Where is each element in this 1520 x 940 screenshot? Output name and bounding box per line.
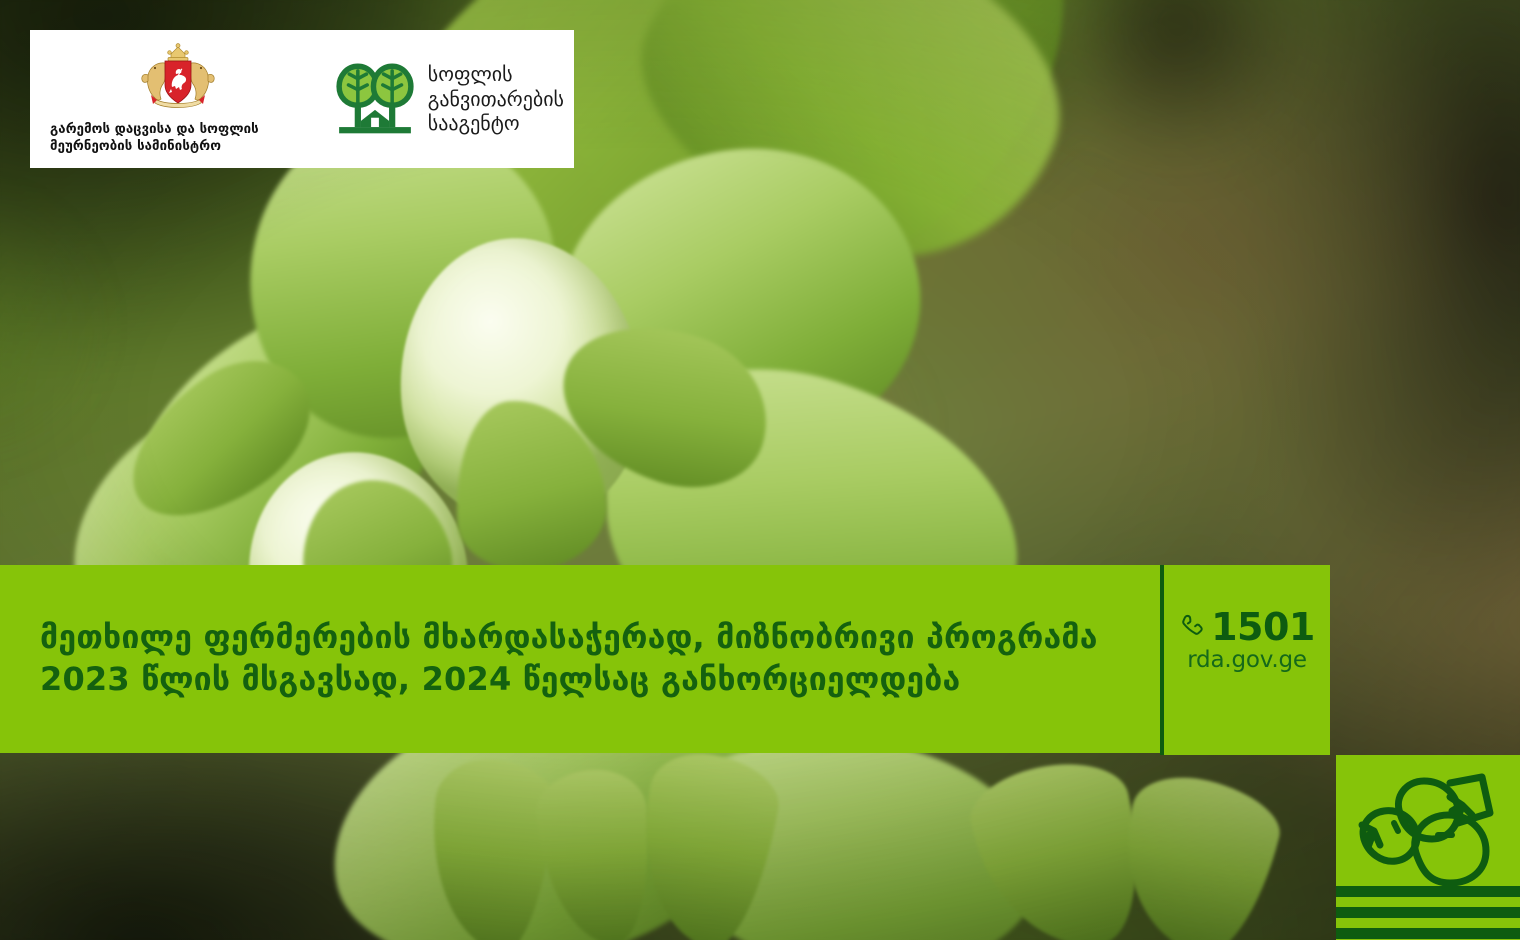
stripe	[1336, 907, 1520, 918]
stripe	[1336, 928, 1520, 939]
rda-trees-house-icon	[336, 60, 414, 138]
stripe	[1336, 886, 1520, 897]
website-url[interactable]: rda.gov.ge	[1187, 647, 1307, 673]
headline-text: მეთხილე ფერმერების მხარდასაჭერად, მიზნობ…	[40, 617, 1114, 700]
poster-canvas: გარემოს დაცვისა და სოფლის მეურნეობის სამ…	[0, 0, 1520, 940]
phone-handset-icon	[1179, 612, 1209, 642]
phone-row[interactable]: 1501	[1179, 608, 1315, 646]
hazelnut-icon-tile	[1336, 755, 1520, 940]
agency-logo-block: სოფლის განვითარების სააგენტო	[336, 60, 564, 138]
ministry-name: გარემოს დაცვისა და სოფლის მეურნეობის სამ…	[48, 122, 259, 156]
hazelnut-cluster-icon	[1354, 769, 1504, 887]
phone-number[interactable]: 1501	[1211, 608, 1315, 646]
contact-box[interactable]: 1501 rda.gov.ge	[1160, 565, 1330, 755]
headline-banner: მეთხილე ფერმერების მხარდასაჭერად, მიზნობ…	[0, 565, 1160, 753]
georgia-coat-of-arms-icon	[135, 43, 221, 117]
stripe-decoration	[1336, 880, 1520, 940]
logo-panel: გარემოს დაცვისა და სოფლის მეურნეობის სამ…	[30, 30, 574, 168]
agency-name: სოფლის განვითარების სააგენტო	[428, 62, 564, 135]
ministry-logo-block: გარემოს დაცვისა და სოფლის მეურნეობის სამ…	[48, 43, 308, 156]
